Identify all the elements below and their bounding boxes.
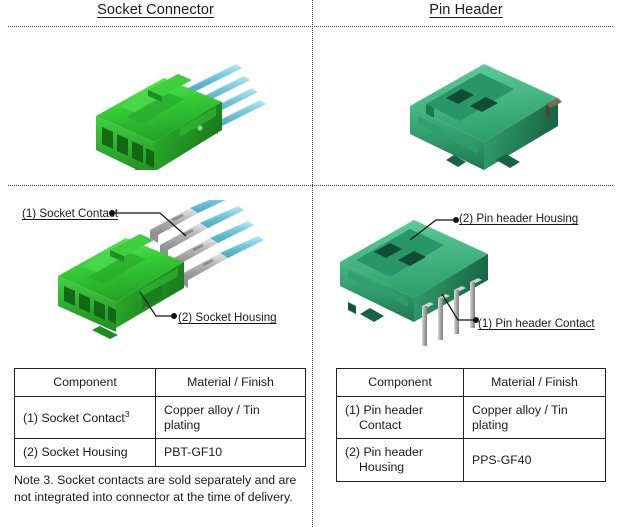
pin-header-spec-table: Component Material / Finish (1) Pin head… <box>336 368 606 482</box>
callout-pin-header-housing: (2) Pin header Housing <box>459 212 578 225</box>
callout-pin-header-contact: (1) Pin header Contact <box>478 317 595 330</box>
cell-material-socket-housing: PBT-GF10 <box>156 439 306 467</box>
table-header-material: Material / Finish <box>156 369 306 397</box>
cell-material-pin-header-contact: Copper alloy / Tin plating <box>464 396 606 439</box>
cell-component-socket-housing: (2) Socket Housing <box>15 439 156 467</box>
cell-component-socket-contact: (1) Socket Contact3 <box>15 396 156 439</box>
socket-spec-table: Component Material / Finish (1) Socket C… <box>14 368 306 467</box>
leader-line-pin-header-contact <box>440 292 482 328</box>
cell-text: (1) Pin header Contact <box>345 403 455 433</box>
cell-material-socket-contact: Copper alloy / Tin plating <box>156 396 306 439</box>
leader-line-socket-housing <box>138 288 186 324</box>
table-header-component: Component <box>337 369 464 397</box>
leader-line-socket-contact <box>108 206 198 246</box>
column-title-socket-connector: Socket Connector <box>0 2 311 18</box>
table-row-header: Component Material / Finish <box>337 369 606 397</box>
table-row: (1) Socket Contact3 Copper alloy / Tin p… <box>15 396 306 439</box>
divider-horizontal-top <box>8 26 613 27</box>
cell-component-pin-header-housing: (2) Pin header Housing <box>337 439 464 482</box>
pin-header-illustration <box>388 48 588 178</box>
leader-line-pin-header-housing <box>404 214 462 248</box>
table-row: (2) Pin header Housing PPS-GF40 <box>337 439 606 482</box>
cell-text: (1) Socket Contact <box>23 411 125 425</box>
table-row-header: Component Material / Finish <box>15 369 306 397</box>
cell-text: (2) Pin header Housing <box>345 445 455 475</box>
callout-socket-contact: (1) Socket Contact <box>22 207 118 220</box>
footnote-note-3: Note 3. Socket contacts are sold separat… <box>14 472 306 507</box>
datasheet-page: Socket Connector Pin Header <box>0 0 621 527</box>
column-title-pin-header: Pin Header <box>311 2 621 18</box>
cell-material-pin-header-housing: PPS-GF40 <box>464 439 606 482</box>
footnote-marker: 3 <box>125 409 130 419</box>
socket-connector-illustration <box>60 50 280 175</box>
cell-component-pin-header-contact: (1) Pin header Contact <box>337 396 464 439</box>
table-header-component: Component <box>15 369 156 397</box>
divider-vertical <box>312 0 313 527</box>
table-row: (2) Socket Housing PBT-GF10 <box>15 439 306 467</box>
table-header-material: Material / Finish <box>464 369 606 397</box>
callout-socket-housing: (2) Socket Housing <box>178 311 277 324</box>
table-row: (1) Pin header Contact Copper alloy / Ti… <box>337 396 606 439</box>
divider-horizontal-middle <box>8 185 613 186</box>
